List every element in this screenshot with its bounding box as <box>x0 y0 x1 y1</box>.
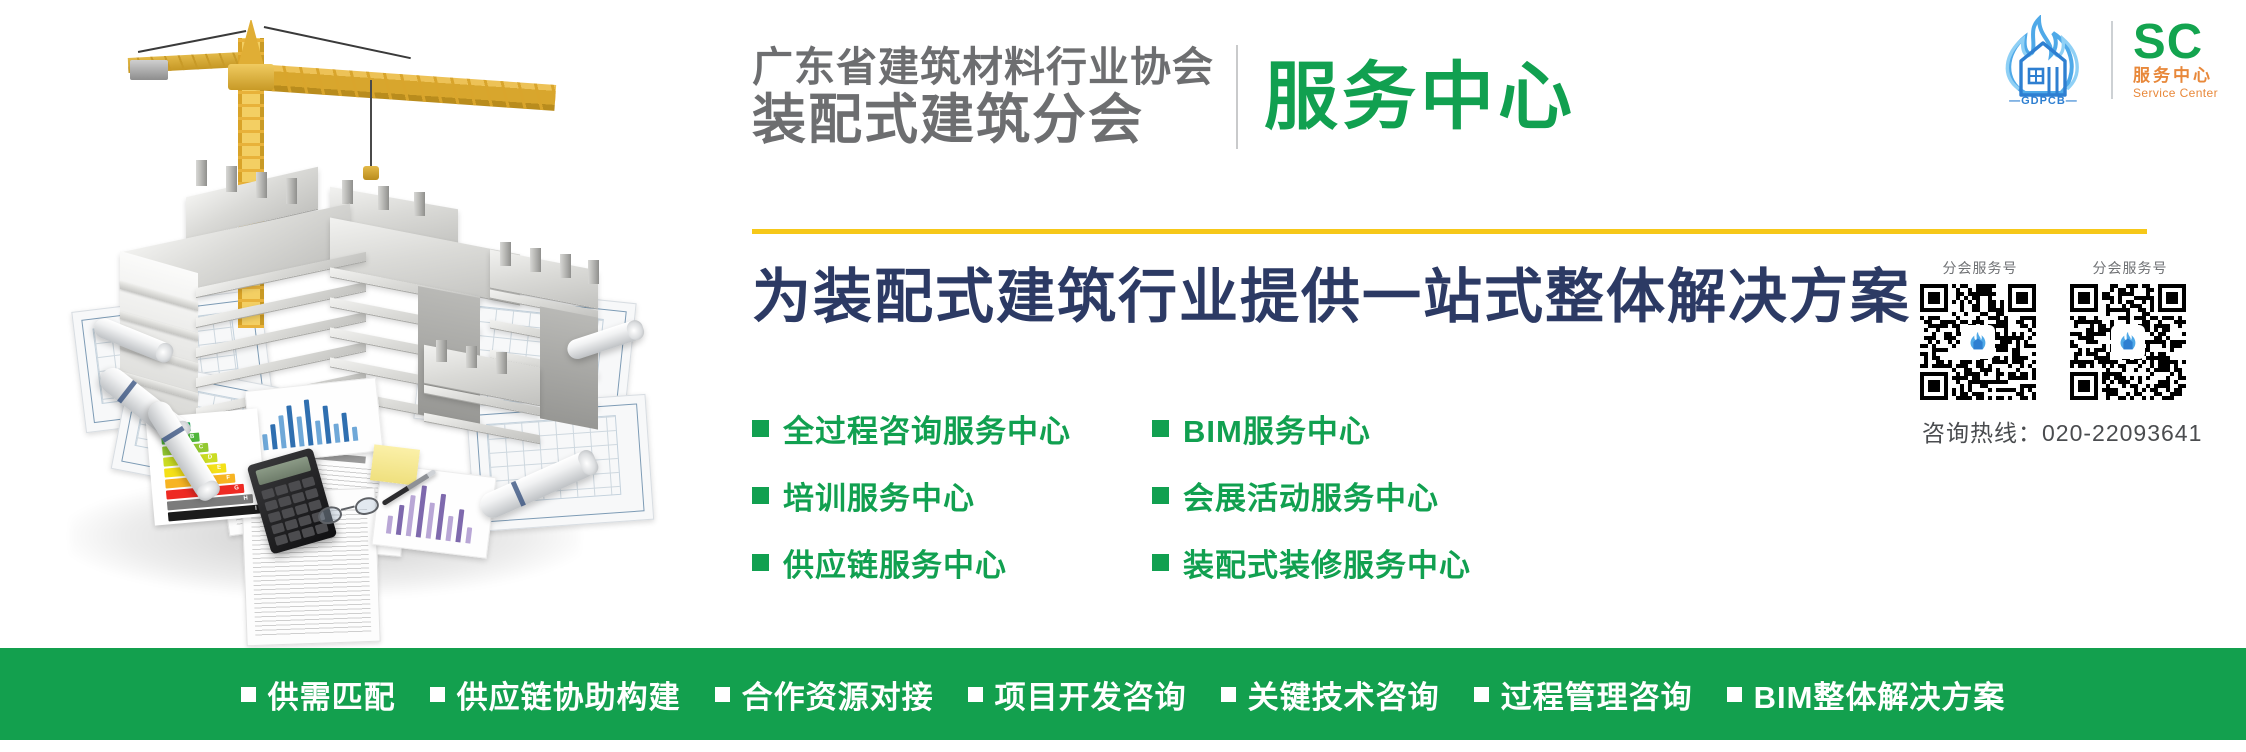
service-center-title: 服务中心 <box>1264 58 1576 136</box>
bullet-square-icon <box>430 687 445 702</box>
banner-content: 广东省建筑材料行业协会 装配式建筑分会 服务中心 为装配式建筑行业提供一站式整体… <box>660 0 2246 648</box>
promo-banner: ABCDEFGHI <box>0 0 2246 752</box>
logo-divider <box>2111 21 2113 99</box>
slogan-text: 为装配式建筑行业提供一站式整体解决方案 <box>752 262 1911 332</box>
bullet-square-icon <box>1152 554 1169 571</box>
sc-lockup: SC 服务中心 Service Center <box>2133 19 2218 101</box>
qr-label: 分会服务号 <box>1920 258 2040 278</box>
service-label: 全过程咨询服务中心 <box>783 406 1071 451</box>
bullet-square-icon <box>715 687 730 702</box>
footer-item[interactable]: 关键技术咨询 <box>1221 672 1440 717</box>
footer-item[interactable]: 供应链协助构建 <box>430 672 681 717</box>
gdpcb-house-flame-icon: —GDPCB— <box>1995 15 2091 105</box>
brand-logo: —GDPCB— SC 服务中心 Service Center <box>1995 14 2218 106</box>
footer-item[interactable]: 合作资源对接 <box>715 672 934 717</box>
org-line-1: 广东省建筑材料行业协会 <box>752 44 1214 91</box>
sticky-note <box>370 444 420 485</box>
footer-item[interactable]: 供需匹配 <box>241 672 396 717</box>
qr-cell: 分会服务号 <box>2070 258 2190 400</box>
organization-name: 广东省建筑材料行业协会 装配式建筑分会 <box>752 44 1214 149</box>
qr-code-icon[interactable] <box>1920 284 2036 400</box>
footer-item-label: 过程管理咨询 <box>1501 672 1693 717</box>
bullet-square-icon <box>1152 420 1169 437</box>
footer-item-label: 供需匹配 <box>268 672 396 717</box>
service-label: 供应链服务中心 <box>783 540 1007 585</box>
service-label: BIM服务中心 <box>1183 406 1371 451</box>
footer-bar: 供需匹配供应链协助构建合作资源对接项目开发咨询关键技术咨询过程管理咨询BIM整体… <box>0 648 2246 740</box>
gold-divider <box>752 229 2147 234</box>
footer-item[interactable]: 项目开发咨询 <box>968 672 1187 717</box>
footer-item-label: BIM整体解决方案 <box>1754 672 2006 717</box>
footer-item-label: 关键技术咨询 <box>1248 672 1440 717</box>
qr-section: 分会服务号 分会服务号 <box>1920 258 2220 448</box>
bullet-square-icon <box>241 687 256 702</box>
bullet-square-icon <box>968 687 983 702</box>
hotline-text: 咨询热线：020-22093641 <box>1920 414 2220 448</box>
house-flame-mini-svg <box>1967 331 1989 353</box>
gdpcb-abbr-label: —GDPCB— <box>1995 95 2091 107</box>
bullet-square-icon <box>752 487 769 504</box>
qr-cell: 分会服务号 <box>1920 258 2040 400</box>
footer-item[interactable]: 过程管理咨询 <box>1474 672 1693 717</box>
service-label: 装配式装修服务中心 <box>1183 540 1471 585</box>
qr-code-icon[interactable] <box>2070 284 2186 400</box>
service-label: 会展活动服务中心 <box>1183 473 1439 518</box>
title-divider <box>1236 45 1238 149</box>
footer-item[interactable]: BIM整体解决方案 <box>1727 672 2006 717</box>
bullet-square-icon <box>1727 687 1742 702</box>
service-item[interactable]: 装配式装修服务中心 <box>1152 540 1832 585</box>
org-line-2: 装配式建筑分会 <box>752 91 1214 149</box>
sc-english-label: Service Center <box>2133 86 2218 101</box>
service-item[interactable]: 供应链服务中心 <box>752 540 1152 585</box>
service-item[interactable]: BIM服务中心 <box>1152 406 1832 451</box>
construction-site-illustration: ABCDEFGHI <box>0 0 660 648</box>
house-flame-svg <box>1995 15 2091 105</box>
service-label: 培训服务中心 <box>783 473 975 518</box>
bar-chart-sheet <box>244 377 383 464</box>
sc-monogram: SC <box>2133 19 2203 65</box>
service-item[interactable]: 培训服务中心 <box>752 473 1152 518</box>
sc-chinese-label: 服务中心 <box>2133 65 2213 86</box>
footer-item-label: 供应链协助构建 <box>457 672 681 717</box>
service-list: 全过程咨询服务中心 BIM服务中心 培训服务中心 会展活动服务中心 供应链服务中… <box>752 406 1832 585</box>
bullet-square-icon <box>752 420 769 437</box>
qr-center-logo-icon <box>2113 327 2143 357</box>
house-flame-mini-svg <box>2117 331 2139 353</box>
service-item[interactable]: 会展活动服务中心 <box>1152 473 1832 518</box>
footer-item-label: 合作资源对接 <box>742 672 934 717</box>
service-item[interactable]: 全过程咨询服务中心 <box>752 406 1152 451</box>
bullet-square-icon <box>1152 487 1169 504</box>
qr-center-logo-icon <box>1963 327 1993 357</box>
bullet-square-icon <box>752 554 769 571</box>
bullet-square-icon <box>1474 687 1489 702</box>
bullet-square-icon <box>1221 687 1236 702</box>
title-block: 广东省建筑材料行业协会 装配式建筑分会 服务中心 <box>752 44 1576 149</box>
qr-label: 分会服务号 <box>2070 258 2190 278</box>
footer-item-label: 项目开发咨询 <box>995 672 1187 717</box>
